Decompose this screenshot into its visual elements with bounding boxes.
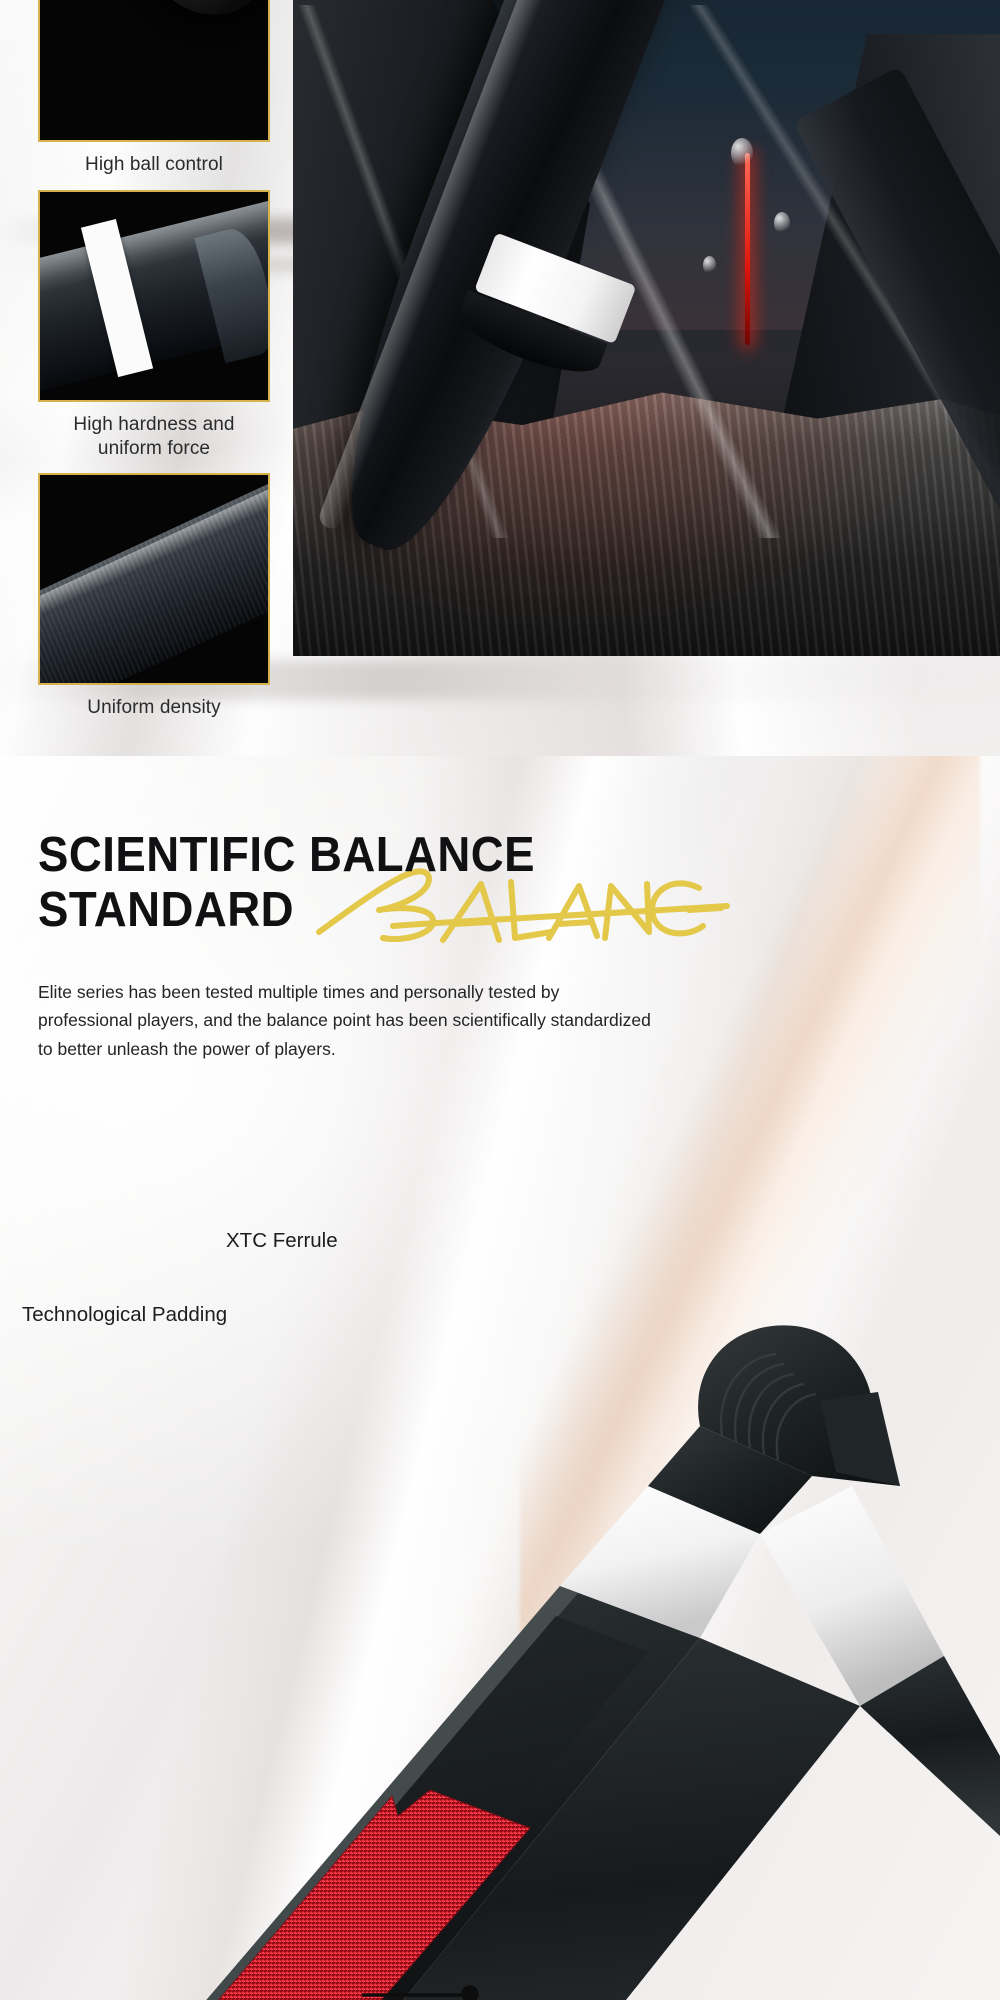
ferrule-band-closeup-image — [38, 190, 270, 402]
shaft-shape — [38, 473, 270, 685]
feature-caption: Uniform density — [38, 685, 270, 733]
headline-line-2: STANDARD — [38, 883, 875, 938]
feature-thumbnail-item[interactable]: High ball control — [38, 0, 270, 190]
hero-lava-crack — [745, 153, 750, 345]
product-page: High ball control High hardness andunifo… — [0, 0, 1000, 2000]
feature-thumbnail-item[interactable]: High hardness anduniform force — [38, 190, 270, 474]
balance-description: Elite series has been tested multiple ti… — [38, 978, 658, 1063]
hero-water-droplet — [774, 212, 790, 234]
feature-caption: High ball control — [38, 142, 270, 190]
balance-standard-section: SCIENTIFIC BALANCE STANDARD — [0, 756, 1000, 2000]
shaft-grain-closeup-image — [38, 473, 270, 685]
headline-line-1: SCIENTIFIC BALANCE — [38, 828, 535, 882]
cue-cutaway-diagram — [0, 1186, 1000, 2000]
feature-gallery-section: High ball control High hardness andunifo… — [0, 0, 1000, 756]
cue-striking-rock-hero-image — [293, 0, 1000, 656]
feature-caption: High hardness anduniform force — [38, 402, 270, 474]
feature-thumbnail-list: High ball control High hardness andunifo… — [38, 0, 270, 733]
feature-thumbnail-item[interactable]: Uniform density — [38, 473, 270, 733]
cue-tip-shape — [125, 0, 270, 30]
page-title: SCIENTIFIC BALANCE STANDARD — [38, 828, 875, 938]
cue-tip-closeup-image — [38, 0, 270, 142]
